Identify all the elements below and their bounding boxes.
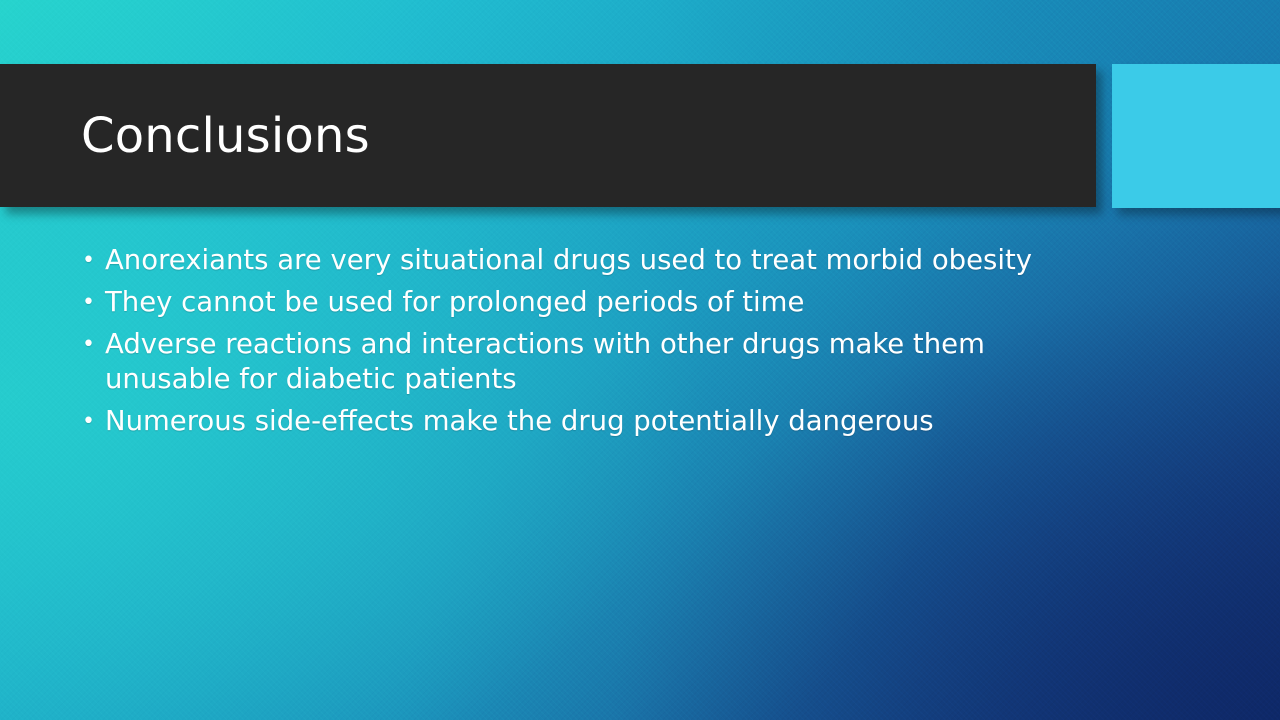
list-item-text: Numerous side-effects make the drug pote… — [105, 405, 934, 437]
title-bar: Conclusions — [0, 64, 1096, 207]
list-item-text: Adverse reactions and interactions with … — [105, 328, 985, 395]
list-item: Numerous side-effects make the drug pote… — [78, 404, 1148, 439]
list-item: They cannot be used for prolonged period… — [78, 285, 1148, 320]
list-item-text: They cannot be used for prolonged period… — [105, 286, 804, 318]
list-item: Adverse reactions and interactions with … — [78, 327, 1045, 397]
page-title: Conclusions — [81, 112, 370, 160]
accent-rectangle — [1112, 64, 1280, 208]
list-item-text: Anorexiants are very situational drugs u… — [105, 244, 1032, 276]
presentation-slide: Conclusions Anorexiants are very situati… — [0, 0, 1280, 720]
list-item: Anorexiants are very situational drugs u… — [78, 243, 1148, 278]
bullet-list: Anorexiants are very situational drugs u… — [78, 243, 1148, 446]
